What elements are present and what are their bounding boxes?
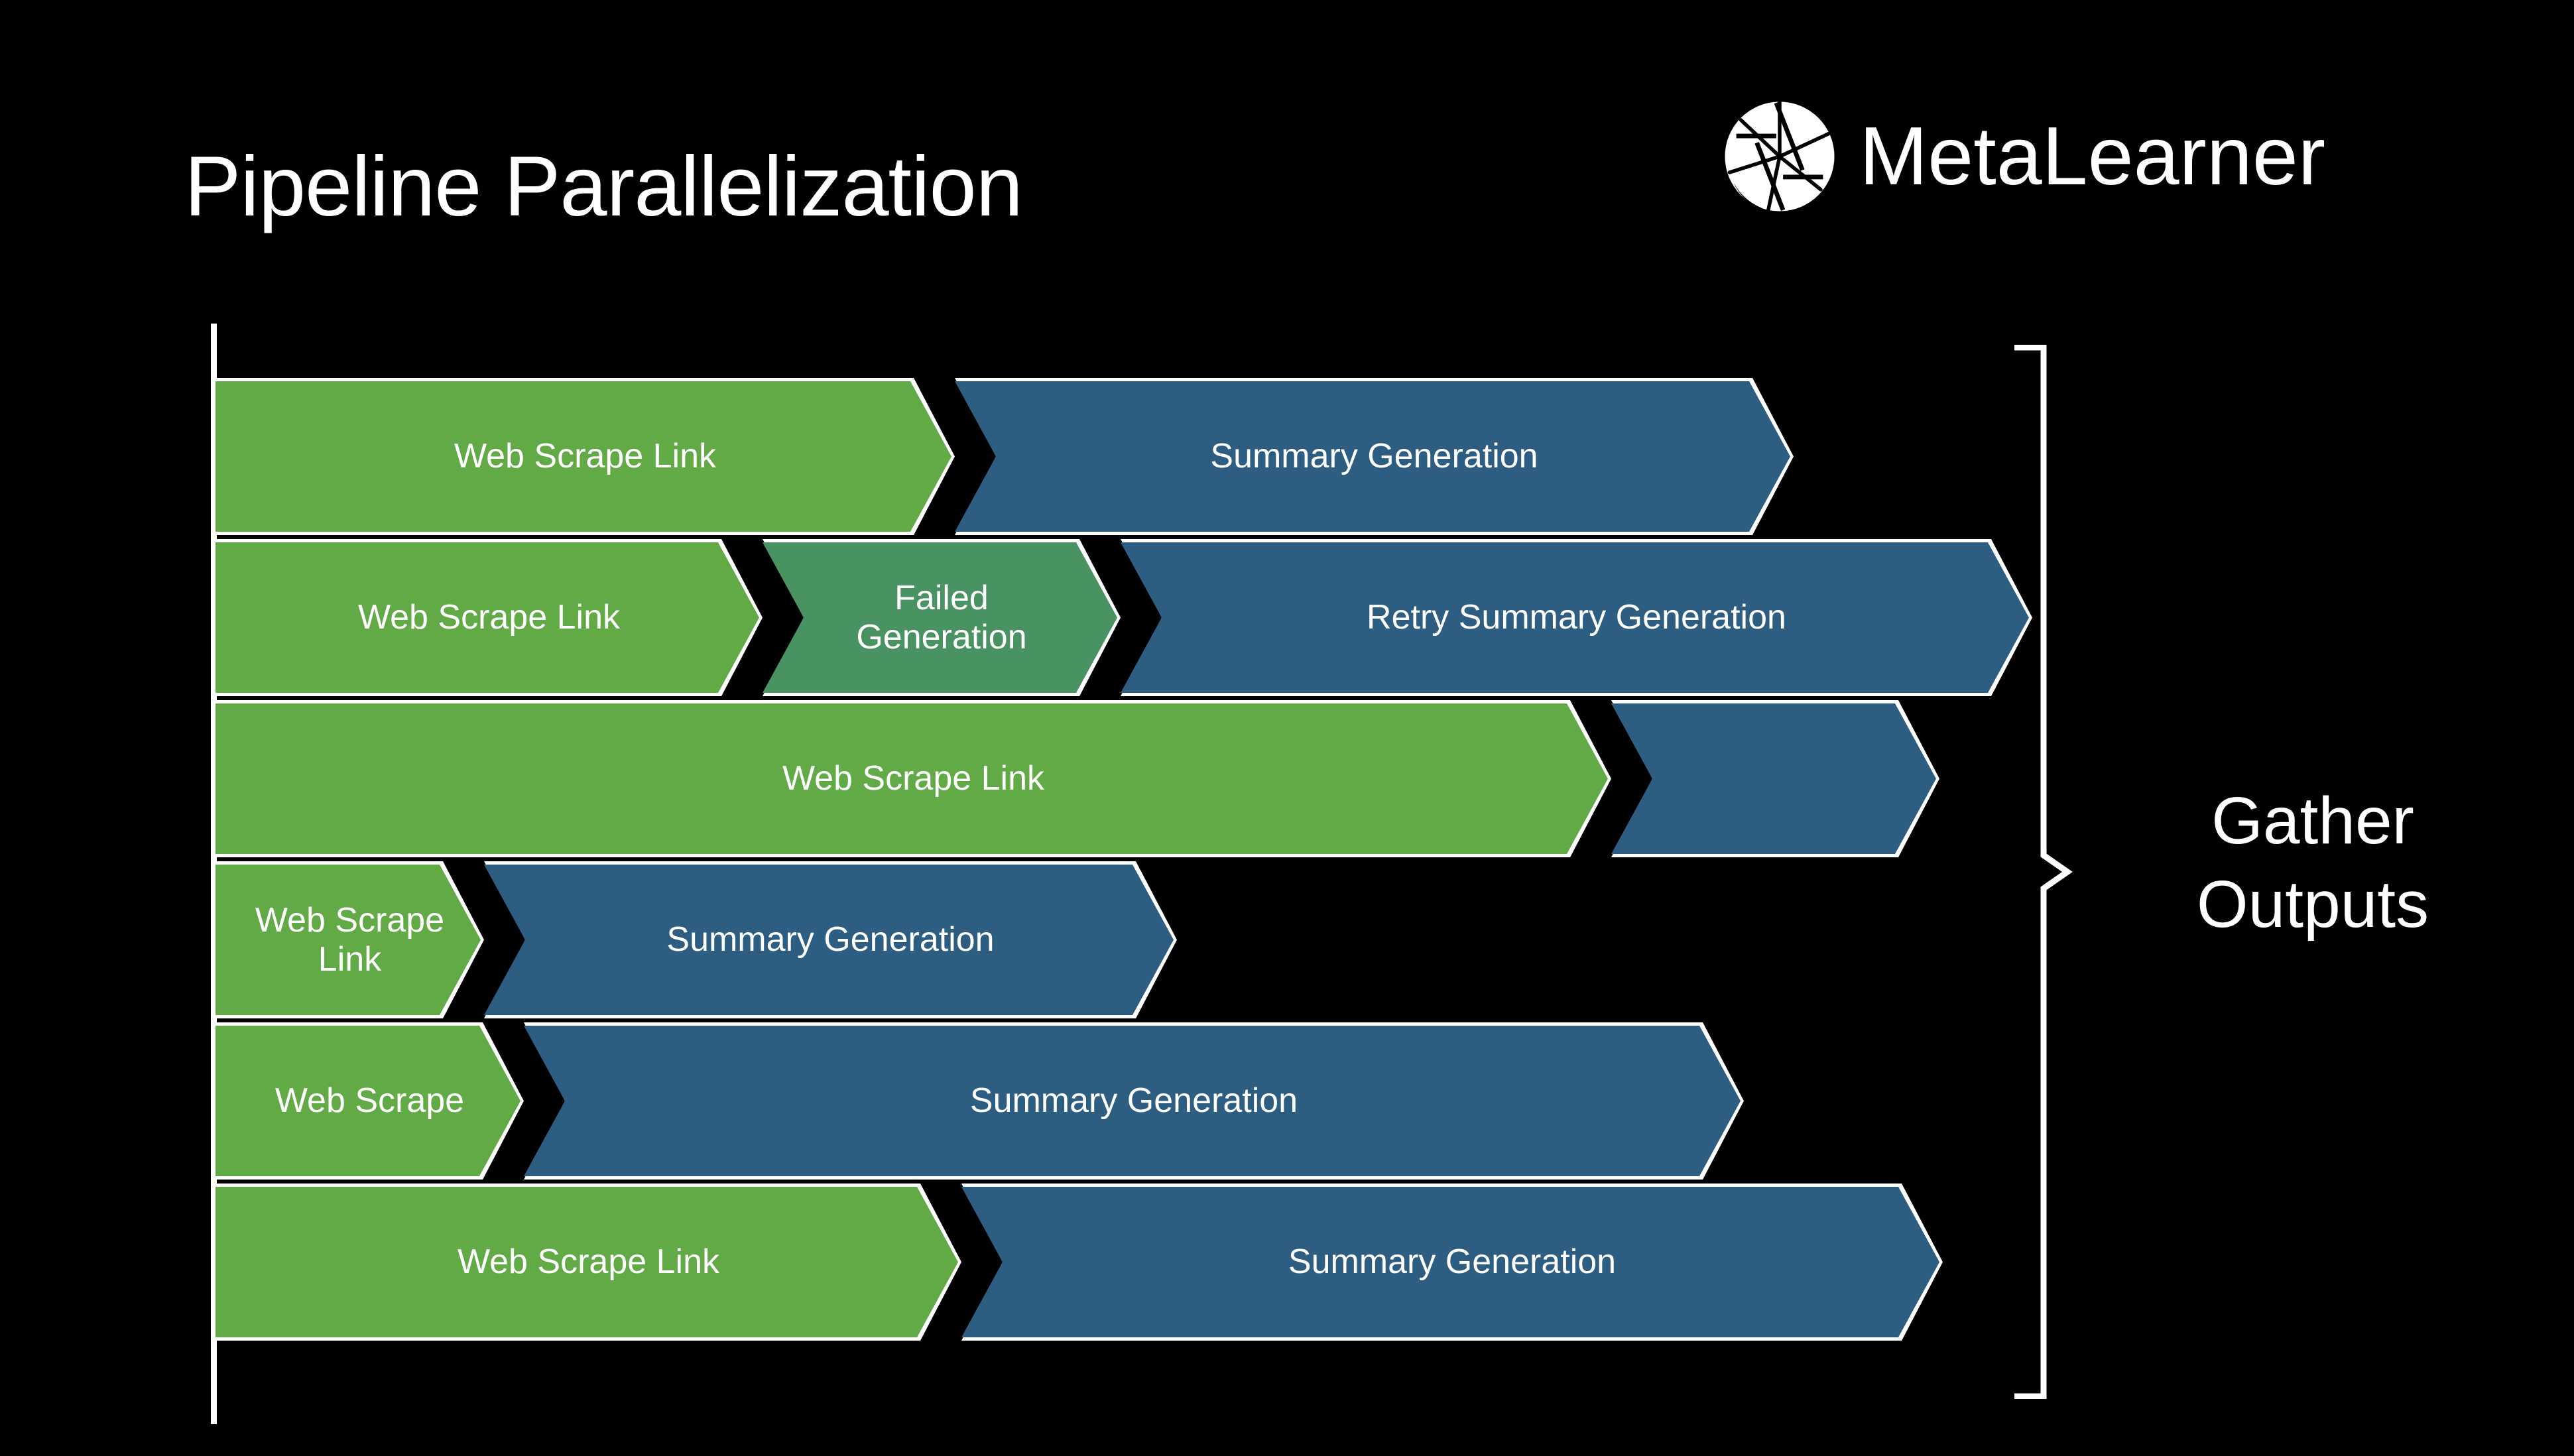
pipeline-row: Web Scrape LinkSummary Generation bbox=[215, 861, 2138, 1018]
pipeline-stage-scrape[interactable]: Web Scrape Link bbox=[215, 378, 955, 535]
stage-chevron-shape bbox=[1611, 700, 1939, 857]
pipeline-stage-scrape[interactable]: Web Scrape Link bbox=[215, 539, 763, 696]
pipeline-row: Web Scrape LinkFailed GenerationRetry Su… bbox=[215, 539, 2138, 696]
pipeline-chart: Web Scrape LinkSummary GenerationWeb Scr… bbox=[0, 0, 2574, 1456]
stage-chevron-shape bbox=[955, 378, 1794, 535]
stage-chevron-shape bbox=[484, 861, 1177, 1018]
pipeline-stage-scrape[interactable]: Web Scrape Link bbox=[215, 700, 1611, 857]
pipeline-row: Web Scrape LinkSummary Generation bbox=[215, 1183, 2138, 1341]
pipeline-stage-scrape[interactable]: Web Scrape Link bbox=[215, 861, 484, 1018]
stage-chevron-shape bbox=[961, 1183, 1943, 1341]
pipeline-stage-failed[interactable]: Failed Generation bbox=[763, 539, 1121, 696]
pipeline-row: Web Scrape LinkSummary Generation bbox=[215, 378, 2138, 535]
pipeline-stage-generation[interactable]: Summary Generation bbox=[484, 861, 1177, 1018]
stage-chevron-shape bbox=[215, 1183, 961, 1341]
pipeline-row: Web Scrape Link bbox=[215, 700, 2138, 857]
stage-chevron-shape bbox=[215, 861, 484, 1018]
pipeline-stage-generation[interactable]: Summary Generation bbox=[524, 1022, 1744, 1180]
pipeline-stage-scrape[interactable]: Web Scrape Link bbox=[215, 1183, 961, 1341]
pipeline-stage-scrape[interactable]: Web Scrape bbox=[215, 1022, 524, 1180]
stage-chevron-shape bbox=[1121, 539, 2032, 696]
pipeline-rows: Web Scrape LinkSummary GenerationWeb Scr… bbox=[215, 378, 2138, 1345]
pipeline-stage-generation[interactable]: Retry Summary Generation bbox=[1121, 539, 2032, 696]
stage-chevron-shape bbox=[215, 1022, 524, 1180]
stage-chevron-shape bbox=[763, 539, 1121, 696]
pipeline-stage-generation[interactable]: Summary Generation bbox=[961, 1183, 1943, 1341]
stage-chevron-shape bbox=[215, 378, 955, 535]
pipeline-row: Web ScrapeSummary Generation bbox=[215, 1022, 2138, 1180]
stage-chevron-shape bbox=[215, 539, 763, 696]
pipeline-stage-generation[interactable] bbox=[1611, 700, 1939, 857]
gather-outputs-label: Gather Outputs bbox=[2107, 779, 2518, 946]
curly-brace-right-icon bbox=[2001, 345, 2081, 1399]
stage-chevron-shape bbox=[215, 700, 1611, 857]
pipeline-stage-generation[interactable]: Summary Generation bbox=[955, 378, 1794, 535]
stage-chevron-shape bbox=[524, 1022, 1744, 1180]
